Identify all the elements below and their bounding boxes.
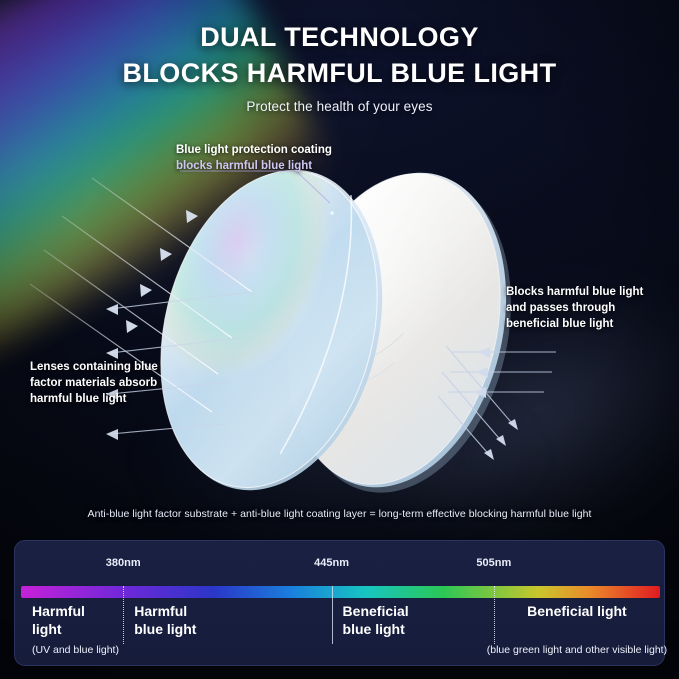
spectrum-divider-1: [123, 586, 124, 644]
wavelength-tick-labels: 380nm445nm505nm: [15, 541, 666, 569]
annotation-blocks-passes-line-3: beneficial blue light: [506, 317, 643, 333]
headline-line-1: DUAL TECHNOLOGY: [0, 20, 679, 56]
wavelength-label-505nm: 505nm: [476, 557, 511, 569]
band-label-line-2: light: [32, 621, 85, 639]
formula-caption: Anti-blue light factor substrate + anti-…: [0, 508, 679, 520]
spectrum-divider-2: [332, 586, 333, 644]
band-label-beneficial-light: Beneficial light: [527, 603, 627, 621]
band-label-harmful-blue-light: Harmfulblue light: [134, 603, 196, 639]
annotation-blue-factor-line-3: harmful blue light: [30, 392, 158, 408]
band-label-line-2: blue light: [134, 621, 196, 639]
band-label-harmful-light: Harmfullight: [32, 603, 85, 639]
annotation-blocks-passes-line-2: and passes through: [506, 301, 643, 317]
spectrum-divider-3: [494, 586, 495, 644]
annotation-blocks-passes: Blocks harmful blue light and passes thr…: [506, 285, 643, 333]
annotation-coating: Blue light protection coating blocks har…: [176, 143, 332, 175]
wavelength-label-380nm: 380nm: [106, 557, 141, 569]
spectrum-panel: 380nm445nm505nm Harmfullight(UV and blue…: [14, 540, 665, 666]
band-label-line-1: Beneficial light: [527, 603, 627, 621]
annotation-coating-line-1: Blue light protection coating: [176, 143, 332, 159]
band-label-beneficial-blue-light: Beneficialblue light: [343, 603, 409, 639]
annotation-blocks-passes-line-1: Blocks harmful blue light: [506, 285, 643, 301]
headline-line-2: BLOCKS HARMFUL BLUE LIGHT: [0, 56, 679, 92]
band-note-harmful-light: (UV and blue light): [32, 644, 119, 656]
band-label-line-2: blue light: [343, 621, 409, 639]
subheadline: Protect the health of your eyes: [0, 99, 679, 114]
band-label-line-1: Harmful: [32, 603, 85, 621]
infographic-canvas: DUAL TECHNOLOGY BLOCKS HARMFUL BLUE LIGH…: [0, 0, 679, 679]
headline: DUAL TECHNOLOGY BLOCKS HARMFUL BLUE LIGH…: [0, 20, 679, 92]
annotation-blue-factor-line-1: Lenses containing blue: [30, 360, 158, 376]
band-note-beneficial-light: (blue green light and other visible ligh…: [487, 644, 667, 656]
annotation-blue-factor-line-2: factor materials absorb: [30, 376, 158, 392]
band-label-line-1: Harmful: [134, 603, 196, 621]
annotation-blue-factor: Lenses containing blue factor materials …: [30, 360, 158, 408]
wavelength-label-445nm: 445nm: [314, 557, 349, 569]
spectrum-gradient-bar: [21, 586, 660, 598]
annotation-coating-line-2: blocks harmful blue light: [176, 159, 332, 175]
band-label-line-1: Beneficial: [343, 603, 409, 621]
